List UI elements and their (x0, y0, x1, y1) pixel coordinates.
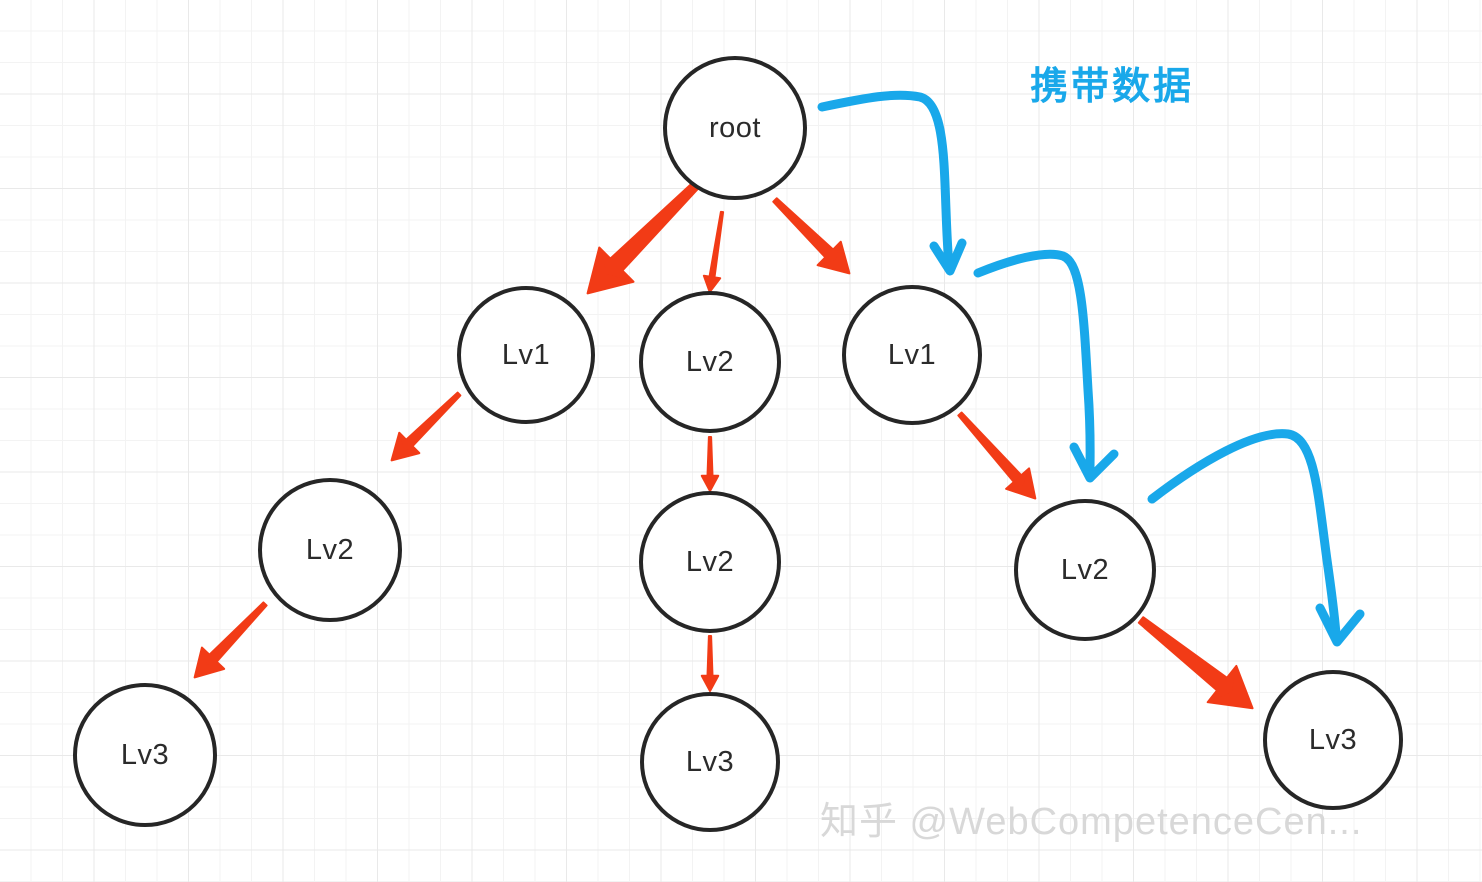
node-label: Lv2 (686, 346, 734, 379)
red-arrow-lv2b-to-lv3a (195, 602, 267, 677)
node-label: root (709, 112, 761, 145)
red-arrow-lv2a-to-lv2c (702, 437, 719, 491)
node-lv2-d[interactable]: Lv2 (1014, 499, 1156, 641)
node-label: Lv2 (1061, 554, 1109, 587)
blue-arrow-data-flow-2 (978, 254, 1090, 470)
red-arrow-root-to-lv1a (588, 178, 703, 293)
node-label: Lv3 (121, 739, 169, 772)
node-lv2-a[interactable]: Lv2 (639, 291, 781, 433)
node-label: Lv2 (306, 534, 354, 567)
node-label: Lv2 (686, 546, 734, 579)
node-label: Lv3 (1309, 724, 1357, 757)
watermark: 知乎 @WebCompetenceCen... (820, 790, 1362, 845)
red-arrow-lv2d-to-lv3c (1139, 617, 1253, 708)
blue-arrow-data-flow-1 (822, 95, 949, 266)
node-label: Lv3 (686, 746, 734, 779)
red-arrow-lv2c-to-lv3b (702, 636, 719, 691)
node-lv2-c[interactable]: Lv2 (639, 491, 781, 633)
node-root[interactable]: root (663, 56, 807, 200)
blue-arrow-head-data-flow-3 (1320, 608, 1360, 642)
node-lv3-b[interactable]: Lv3 (640, 692, 780, 832)
red-arrow-root-to-lv1b (773, 198, 849, 273)
node-lv3-a[interactable]: Lv3 (73, 683, 217, 827)
node-lv2-b[interactable]: Lv2 (258, 478, 402, 622)
node-label: Lv1 (888, 339, 936, 372)
node-label: Lv1 (502, 339, 550, 372)
node-lv1-a[interactable]: Lv1 (457, 286, 595, 424)
blue-arrow-data-flow-3 (1152, 434, 1336, 634)
red-arrow-lv1a-to-lv2b (392, 393, 461, 461)
annotation-carry-data: 携带数据 (1030, 55, 1194, 110)
diagram-canvas: rootLv1Lv2Lv1Lv2Lv2Lv2Lv3Lv3Lv3 携带数据 知乎 … (0, 0, 1482, 882)
node-lv1-b[interactable]: Lv1 (842, 285, 982, 425)
red-arrow-lv1b-to-lv2d (958, 413, 1035, 499)
node-lv3-c[interactable]: Lv3 (1263, 670, 1403, 810)
